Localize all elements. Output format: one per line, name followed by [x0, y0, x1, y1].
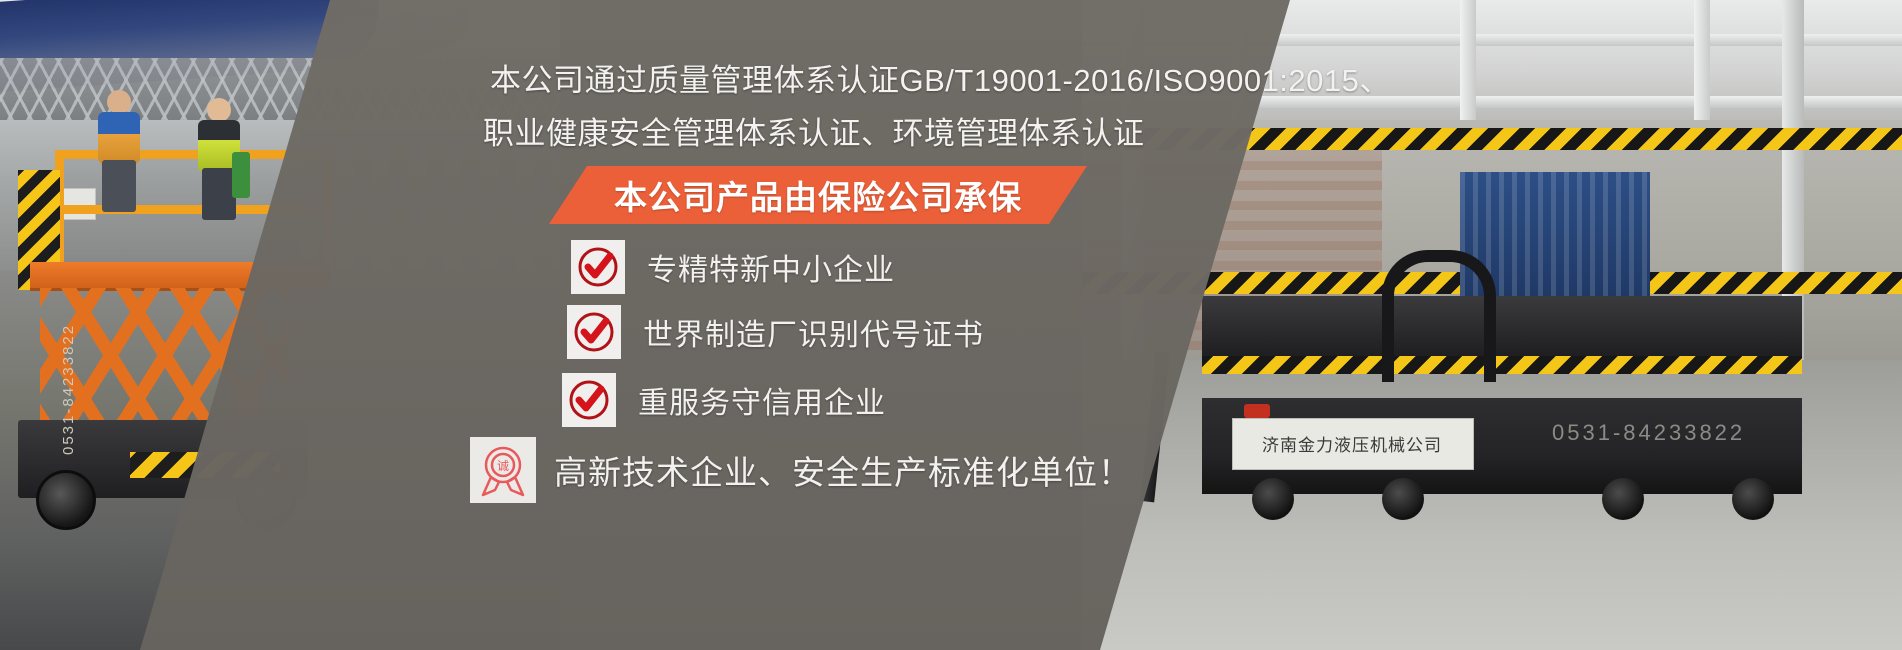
check-circle-icon: [571, 240, 625, 294]
checklist-item-label: 世界制造厂识别代号证书: [643, 310, 984, 354]
checklist-item: 重服务守信用企业: [562, 373, 886, 427]
medal-row: 诚 高新技术企业、安全生产标准化单位！: [470, 437, 1132, 503]
checklist-item: 世界制造厂识别代号证书: [567, 305, 984, 359]
medal-row-label: 高新技术企业、安全生产标准化单位！: [554, 446, 1132, 494]
headline-line-1: 本公司通过质量管理体系认证GB/T19001-2016/ISO9001:2015…: [490, 55, 1391, 100]
checklist-item: 专精特新中小企业: [571, 240, 895, 294]
checklist-item-label: 重服务守信用企业: [638, 378, 886, 422]
insurance-ribbon: 本公司产品由保险公司承保: [549, 166, 1087, 224]
checklist-item-label: 专精特新中小企业: [647, 245, 895, 289]
medal-ribbon-icon: 诚: [470, 437, 536, 503]
promo-banner: 0531-84233822 济南金力液压机械公司 0531-84233822: [0, 0, 1902, 650]
check-circle-icon: [567, 305, 621, 359]
svg-text:诚: 诚: [497, 459, 509, 473]
check-circle-icon: [562, 373, 616, 427]
banner-content: 本公司通过质量管理体系认证GB/T19001-2016/ISO9001:2015…: [0, 0, 1902, 650]
headline-line-2: 职业健康安全管理体系认证、环境管理体系认证: [483, 108, 1145, 153]
ribbon-label: 本公司产品由保险公司承保: [549, 166, 1087, 224]
